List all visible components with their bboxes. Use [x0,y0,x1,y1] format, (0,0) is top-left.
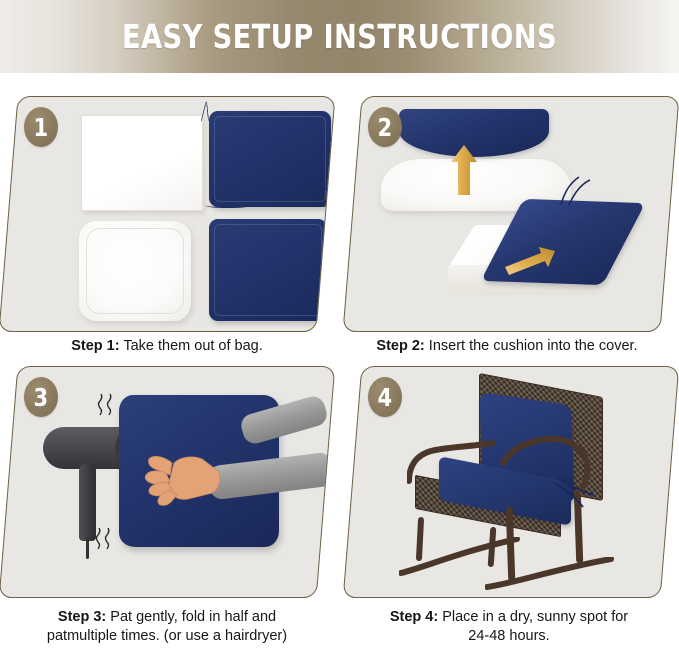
step-caption-4: Step 4: Place in a dry, sunny spot for 2… [344,608,674,646]
header-banner: EASY SETUP INSTRUCTIONS [0,0,679,73]
chair-armrest-left [407,437,491,485]
page-title: EASY SETUP INSTRUCTIONS [27,0,652,73]
cushion-tie-strap [553,477,595,511]
step-number-badge-1: 1 [24,107,58,147]
step-panel-3: 3 [0,366,335,598]
hand-patting-pillow [144,449,210,507]
white-pillow-insert [79,221,191,321]
navy-seat-cover [209,219,327,321]
step-number-badge-2: 2 [368,107,402,147]
diagonal-arrow-icon [503,247,555,273]
motion-squiggle-top [95,393,121,417]
step-panel-2: 2 [343,96,679,332]
navy-seat-cover-ties [557,175,597,205]
infographic-root: EASY SETUP INSTRUCTIONS 1 2 [0,0,679,652]
step-caption-4-line1: Place in a dry, sunny spot for [442,609,628,625]
step-caption-4-label: Step 4: [390,609,438,625]
motion-squiggle-bottom [93,527,119,551]
step-caption-3-label: Step 3: [58,609,106,625]
wicker-rocking-chair [403,381,629,587]
step-caption-2-text: Insert the cushion into the cover. [429,338,638,354]
navy-back-cover-tie-bottom [205,201,251,208]
step-caption-3-line2: patmultiple times. (or use a hairdryer) [4,627,330,646]
step-panel-1: 1 [0,96,335,332]
navy-back-cover [209,111,331,207]
step-caption-2: Step 2: Insert the cushion into the cove… [340,337,674,356]
step-number-badge-3: 3 [24,377,58,417]
step-caption-1-label: Step 1: [71,338,119,354]
step-caption-2-label: Step 2: [376,338,424,354]
white-foam-pad [81,115,203,211]
step-caption-3: Step 3: Pat gently, fold in half and pat… [4,608,330,646]
up-arrow-icon [451,145,477,195]
step-number-badge-4: 4 [368,377,402,417]
step-panel-4: 4 [343,366,679,598]
step-caption-4-line2: 24-48 hours. [344,627,674,646]
step-caption-1: Step 1: Take them out of bag. [8,337,326,356]
chair-rocker-right [485,557,611,595]
step-caption-3-line1: Pat gently, fold in half and [110,609,276,625]
step-caption-1-text: Take them out of bag. [123,338,262,354]
